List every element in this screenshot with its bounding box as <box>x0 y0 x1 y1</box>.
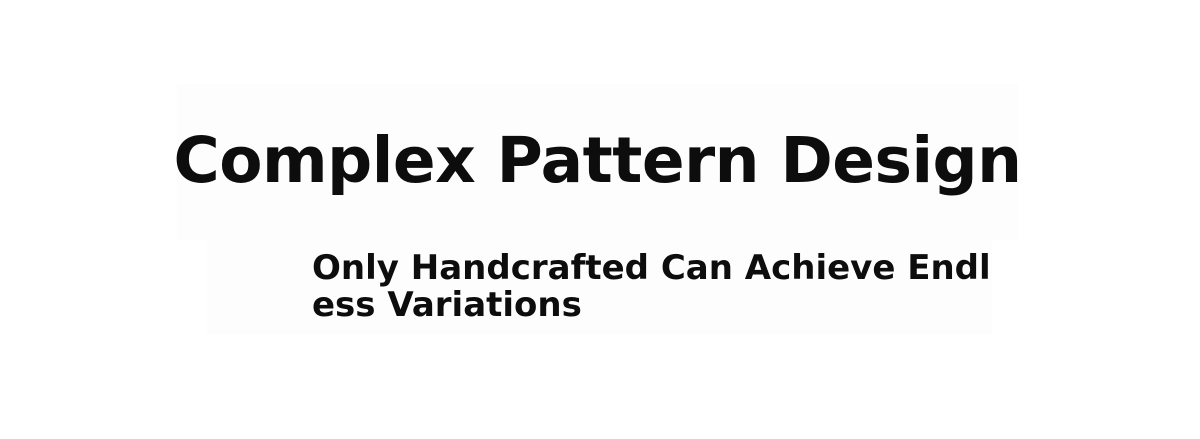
title-block: Complex Pattern Design <box>177 84 1018 240</box>
slide-canvas: Complex Pattern Design Only Handcrafted … <box>0 0 1200 439</box>
page-subtitle: Only Handcrafted Can Achieve Endl ess Va… <box>312 250 991 324</box>
page-title: Complex Pattern Design <box>173 129 1021 192</box>
subtitle-block: Only Handcrafted Can Achieve Endl ess Va… <box>207 240 992 335</box>
